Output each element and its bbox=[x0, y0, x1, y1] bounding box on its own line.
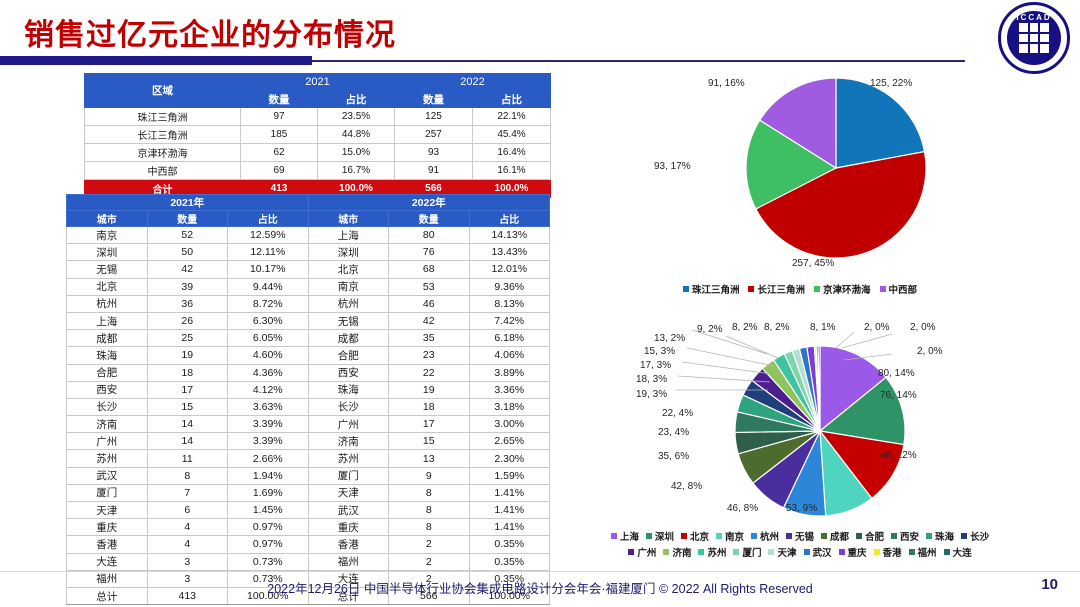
legend-label: 无锡 bbox=[795, 529, 814, 543]
cell-city-2022: 杭州 bbox=[308, 295, 389, 312]
cell-share-2022: 1.59% bbox=[469, 467, 550, 484]
cell-share-2021: 6.30% bbox=[228, 312, 309, 329]
cell-count-2021: 11 bbox=[147, 450, 228, 467]
pie-leader-line bbox=[682, 362, 772, 374]
cell-share-2022: 3.00% bbox=[469, 416, 550, 433]
header-year-2021: 2021 bbox=[241, 74, 395, 91]
cell-share-2022: 14.13% bbox=[469, 227, 550, 244]
cell-share-2022: 13.43% bbox=[469, 244, 550, 261]
pie-label-珠海: 19, 3% bbox=[636, 389, 667, 400]
legend-label: 重庆 bbox=[848, 545, 867, 559]
pie-label-福州: 2, 0% bbox=[910, 322, 936, 333]
legend-item-长沙[interactable]: 长沙 bbox=[961, 529, 989, 543]
cell-city-2021: 重庆 bbox=[67, 519, 148, 536]
legend-label: 厦门 bbox=[742, 545, 761, 559]
legend-item-无锡[interactable]: 无锡 bbox=[786, 529, 814, 543]
cell-count-2022: 68 bbox=[389, 261, 470, 278]
cell-share-2022: 0.35% bbox=[469, 536, 550, 553]
cell-city-2022: 广州 bbox=[308, 416, 389, 433]
cell-share-2021: 3.39% bbox=[228, 433, 309, 450]
legend-label: 苏州 bbox=[707, 545, 726, 559]
legend-label: 长江三角洲 bbox=[757, 282, 805, 296]
table-row: 苏州112.66%苏州132.30% bbox=[67, 450, 550, 467]
legend-swatch-icon bbox=[804, 549, 810, 555]
cell-count-2022: 8 bbox=[389, 519, 470, 536]
cell-share-2021: 1.45% bbox=[228, 502, 309, 519]
cell-count-2021: 3 bbox=[147, 553, 228, 570]
legend-label: 杭州 bbox=[760, 529, 779, 543]
iccad-logo-inner: ICCAD bbox=[1007, 11, 1061, 65]
legend-swatch-icon bbox=[733, 549, 739, 555]
legend-label: 南京 bbox=[725, 529, 744, 543]
cell-city-2022: 无锡 bbox=[308, 312, 389, 329]
legend-label: 上海 bbox=[620, 529, 639, 543]
legend-item-香港[interactable]: 香港 bbox=[874, 545, 902, 559]
cell-count-2022: 76 bbox=[389, 244, 470, 261]
table-row: 武汉81.94%厦门91.59% bbox=[67, 467, 550, 484]
cell-city-2022: 济南 bbox=[308, 433, 389, 450]
table-row: 成都256.05%成都356.18% bbox=[67, 330, 550, 347]
legend-item-深圳[interactable]: 深圳 bbox=[646, 529, 674, 543]
legend-label: 合肥 bbox=[865, 529, 884, 543]
cell-share-2021: 3.39% bbox=[228, 416, 309, 433]
cell-share-2021: 0.97% bbox=[228, 536, 309, 553]
cell-count-2022: 8 bbox=[389, 502, 470, 519]
cell-city-2022: 北京 bbox=[308, 261, 389, 278]
cell-share-2021: 4.12% bbox=[228, 381, 309, 398]
cell-city-2022: 成都 bbox=[308, 330, 389, 347]
cell-city-2022: 西安 bbox=[308, 364, 389, 381]
table-row: 中西部6916.7%9116.1% bbox=[85, 162, 551, 180]
cell-count-2022: 2 bbox=[389, 553, 470, 570]
legend-label: 珠海 bbox=[935, 529, 954, 543]
cell-city-2021: 广州 bbox=[67, 433, 148, 450]
cell-count-2022: 93 bbox=[395, 144, 473, 162]
cell-share-2021: 44.8% bbox=[318, 126, 395, 144]
cell-city-2021: 长沙 bbox=[67, 398, 148, 415]
cell-city-2021: 大连 bbox=[67, 553, 148, 570]
header-share-2022: 占比 bbox=[473, 91, 551, 108]
cell-count-2022: 8 bbox=[389, 484, 470, 501]
header-share-2022: 占比 bbox=[469, 211, 550, 227]
legend-item-武汉[interactable]: 武汉 bbox=[804, 545, 832, 559]
cell-city-2021: 合肥 bbox=[67, 364, 148, 381]
cell-share-2022: 12.01% bbox=[469, 261, 550, 278]
legend-label: 武汉 bbox=[813, 545, 832, 559]
page-number: 10 bbox=[1041, 576, 1058, 593]
cell-city-2021: 深圳 bbox=[67, 244, 148, 261]
cell-city-2021: 无锡 bbox=[67, 261, 148, 278]
cell-city-2021: 武汉 bbox=[67, 467, 148, 484]
cell-share-2022: 22.1% bbox=[473, 108, 551, 126]
pie-label-成都: 35, 6% bbox=[658, 451, 689, 462]
cell-count-2021: 14 bbox=[147, 416, 228, 433]
cell-count-2022: 9 bbox=[389, 467, 470, 484]
pie-label-珠江三角洲: 125, 22% bbox=[870, 78, 912, 89]
legend-swatch-icon bbox=[839, 549, 845, 555]
cell-share-2022: 3.18% bbox=[469, 398, 550, 415]
cell-count-2021: 69 bbox=[241, 162, 318, 180]
legend-item-南京[interactable]: 南京 bbox=[716, 529, 744, 543]
cell-share-2021: 12.11% bbox=[228, 244, 309, 261]
legend-swatch-icon bbox=[628, 549, 634, 555]
cell-city-2022: 香港 bbox=[308, 536, 389, 553]
cell-count-2021: 39 bbox=[147, 278, 228, 295]
legend-label: 天津 bbox=[777, 545, 796, 559]
cell-share-2022: 0.35% bbox=[469, 553, 550, 570]
cell-count-2021: 26 bbox=[147, 312, 228, 329]
table-row: 厦门71.69%天津81.41% bbox=[67, 484, 550, 501]
cell-count-2021: 18 bbox=[147, 364, 228, 381]
pie-label-合肥: 23, 4% bbox=[658, 427, 689, 438]
cell-count-2022: 46 bbox=[389, 295, 470, 312]
city-table-header-row-2: 城市 数量 占比 城市 数量 占比 bbox=[67, 211, 550, 227]
city-pie-chart: 80, 14%76, 14%68, 12%53, 9%46, 8%42, 8%3… bbox=[592, 318, 1080, 528]
legend-swatch-icon bbox=[698, 549, 704, 555]
city-table-head: 2021年 2022年 城市 数量 占比 城市 数量 占比 bbox=[67, 195, 550, 227]
cell-share-2022: 1.41% bbox=[469, 502, 550, 519]
table-row: 杭州368.72%杭州468.13% bbox=[67, 295, 550, 312]
cell-city-2021: 西安 bbox=[67, 381, 148, 398]
legend-item-京津环渤海[interactable]: 京津环渤海 bbox=[814, 282, 871, 296]
cell-city-2021: 北京 bbox=[67, 278, 148, 295]
cell-share-2021: 16.7% bbox=[318, 162, 395, 180]
city-table-body: 南京5212.59%上海8014.13%深圳5012.11%深圳7613.43%… bbox=[67, 227, 550, 605]
cell-region-name: 珠江三角洲 bbox=[85, 108, 241, 126]
pie-label-南京: 53, 9% bbox=[786, 503, 817, 514]
pie-label-广州: 17, 3% bbox=[640, 360, 671, 371]
region-distribution-table: 区域 2021 2022 数量 占比 数量 占比 珠江三角洲9723.5%125… bbox=[84, 73, 551, 198]
legend-swatch-icon bbox=[663, 549, 669, 555]
pie-label-重庆: 8, 1% bbox=[810, 322, 836, 333]
legend-swatch-icon bbox=[961, 533, 967, 539]
cell-region-name: 京津环渤海 bbox=[85, 144, 241, 162]
page-title: 销售过亿元企业的分布情况 bbox=[24, 10, 396, 54]
table-row: 京津环渤海6215.0%9316.4% bbox=[85, 144, 551, 162]
region-table-header-row-1: 区域 2021 2022 bbox=[85, 74, 551, 91]
legend-label: 济南 bbox=[672, 545, 691, 559]
table-row: 长沙153.63%长沙183.18% bbox=[67, 398, 550, 415]
legend-label: 西安 bbox=[900, 529, 919, 543]
cell-city-2022: 长沙 bbox=[308, 398, 389, 415]
legend-item-福州[interactable]: 福州 bbox=[909, 545, 937, 559]
legend-item-上海[interactable]: 上海 bbox=[611, 529, 639, 543]
table-row: 大连30.73%福州20.35% bbox=[67, 553, 550, 570]
cell-city-2021: 天津 bbox=[67, 502, 148, 519]
legend-swatch-icon bbox=[944, 549, 950, 555]
legend-label: 福州 bbox=[918, 545, 937, 559]
legend-label: 长沙 bbox=[970, 529, 989, 543]
legend-item-厦门[interactable]: 厦门 bbox=[733, 545, 761, 559]
cell-share-2021: 10.17% bbox=[228, 261, 309, 278]
legend-label: 中西部 bbox=[889, 282, 918, 296]
city-pie-legend: 上海深圳北京南京杭州无锡成都合肥西安珠海长沙广州济南苏州厦门天津武汉重庆香港福州… bbox=[606, 529, 994, 559]
pie-label-武汉: 8, 2% bbox=[764, 322, 790, 333]
cell-share-2022: 9.36% bbox=[469, 278, 550, 295]
pie-label-长江三角洲: 257, 45% bbox=[792, 258, 834, 269]
cell-share-2022: 3.36% bbox=[469, 381, 550, 398]
cell-share-2022: 1.41% bbox=[469, 484, 550, 501]
legend-item-广州[interactable]: 广州 bbox=[628, 545, 656, 559]
cell-count-2021: 97 bbox=[241, 108, 318, 126]
legend-swatch-icon bbox=[821, 533, 827, 539]
legend-item-珠江三角洲[interactable]: 珠江三角洲 bbox=[683, 282, 740, 296]
cell-city-2022: 武汉 bbox=[308, 502, 389, 519]
city-table-header-row-1: 2021年 2022年 bbox=[67, 195, 550, 211]
header-count-2022: 数量 bbox=[389, 211, 470, 227]
legend-swatch-icon bbox=[814, 286, 820, 292]
legend-label: 北京 bbox=[690, 529, 709, 543]
cell-city-2021: 苏州 bbox=[67, 450, 148, 467]
cell-share-2022: 2.65% bbox=[469, 433, 550, 450]
region-pie-legend: 珠江三角洲长江三角洲京津环渤海中西部 bbox=[600, 282, 1000, 296]
cell-share-2022: 6.18% bbox=[469, 330, 550, 347]
slide-root: 销售过亿元企业的分布情况 ICCAD 区域 2021 2022 数量 占比 数量… bbox=[0, 0, 1080, 607]
legend-swatch-icon bbox=[856, 533, 862, 539]
cell-count-2021: 15 bbox=[147, 398, 228, 415]
cell-count-2022: 23 bbox=[389, 347, 470, 364]
legend-item-西安[interactable]: 西安 bbox=[891, 529, 919, 543]
cell-count-2021: 52 bbox=[147, 227, 228, 244]
cell-count-2022: 17 bbox=[389, 416, 470, 433]
table-row: 珠江三角洲9723.5%12522.1% bbox=[85, 108, 551, 126]
legend-label: 珠江三角洲 bbox=[692, 282, 740, 296]
cell-city-2021: 济南 bbox=[67, 416, 148, 433]
region-pie-svg bbox=[592, 62, 1080, 287]
header-year-2022: 2022 bbox=[395, 74, 551, 91]
table-row: 无锡4210.17%北京6812.01% bbox=[67, 261, 550, 278]
cell-share-2021: 6.05% bbox=[228, 330, 309, 347]
pie-label-深圳: 76, 14% bbox=[880, 390, 917, 401]
pie-label-上海: 80, 14% bbox=[878, 368, 915, 379]
cell-share-2022: 8.13% bbox=[469, 295, 550, 312]
cell-share-2022: 7.42% bbox=[469, 312, 550, 329]
pie-label-京津环渤海: 93, 17% bbox=[654, 161, 691, 172]
header-city-2021: 城市 bbox=[67, 211, 148, 227]
cell-city-2022: 天津 bbox=[308, 484, 389, 501]
table-row: 重庆40.97%重庆81.41% bbox=[67, 519, 550, 536]
cell-share-2021: 0.97% bbox=[228, 519, 309, 536]
cell-count-2021: 14 bbox=[147, 433, 228, 450]
header-city-year-2021: 2021年 bbox=[67, 195, 309, 211]
cell-city-2022: 合肥 bbox=[308, 347, 389, 364]
cell-share-2022: 16.1% bbox=[473, 162, 551, 180]
cell-share-2021: 23.5% bbox=[318, 108, 395, 126]
cell-count-2022: 35 bbox=[389, 330, 470, 347]
cell-share-2021: 8.72% bbox=[228, 295, 309, 312]
pie-leader-line bbox=[726, 336, 778, 358]
cell-count-2022: 91 bbox=[395, 162, 473, 180]
legend-label: 京津环渤海 bbox=[823, 282, 871, 296]
cell-city-2022: 南京 bbox=[308, 278, 389, 295]
table-row: 合肥184.36%西安223.89% bbox=[67, 364, 550, 381]
cell-region-name: 中西部 bbox=[85, 162, 241, 180]
table-row: 西安174.12%珠海193.36% bbox=[67, 381, 550, 398]
cell-city-2021: 上海 bbox=[67, 312, 148, 329]
cell-city-2022: 苏州 bbox=[308, 450, 389, 467]
cell-count-2021: 4 bbox=[147, 519, 228, 536]
legend-item-中西部[interactable]: 中西部 bbox=[880, 282, 918, 296]
table-row: 北京399.44%南京539.36% bbox=[67, 278, 550, 295]
cell-share-2022: 3.89% bbox=[469, 364, 550, 381]
legend-item-苏州[interactable]: 苏州 bbox=[698, 545, 726, 559]
table-row: 香港40.97%香港20.35% bbox=[67, 536, 550, 553]
header-share-2021: 占比 bbox=[318, 91, 395, 108]
chip-grid-icon bbox=[1019, 23, 1049, 53]
table-row: 长江三角洲18544.8%25745.4% bbox=[85, 126, 551, 144]
table-row: 济南143.39%广州173.00% bbox=[67, 416, 550, 433]
pie-label-天津: 8, 2% bbox=[732, 322, 758, 333]
footer-text: 2022年12月26日 中国半导体行业协会集成电路设计分会年会·福建厦门 © 2… bbox=[0, 578, 1080, 597]
cell-count-2022: 18 bbox=[389, 398, 470, 415]
legend-swatch-icon bbox=[683, 286, 689, 292]
legend-item-成都[interactable]: 成都 bbox=[821, 529, 849, 543]
legend-swatch-icon bbox=[786, 533, 792, 539]
pie-label-长沙: 18, 3% bbox=[636, 374, 667, 385]
cell-city-2021: 厦门 bbox=[67, 484, 148, 501]
cell-share-2021: 12.59% bbox=[228, 227, 309, 244]
legend-swatch-icon bbox=[891, 533, 897, 539]
table-row: 广州143.39%济南152.65% bbox=[67, 433, 550, 450]
cell-city-2022: 上海 bbox=[308, 227, 389, 244]
cell-city-2021: 珠海 bbox=[67, 347, 148, 364]
legend-swatch-icon bbox=[926, 533, 932, 539]
cell-count-2021: 62 bbox=[241, 144, 318, 162]
cell-city-2022: 深圳 bbox=[308, 244, 389, 261]
cell-share-2021: 4.60% bbox=[228, 347, 309, 364]
cell-region-name: 长江三角洲 bbox=[85, 126, 241, 144]
cell-count-2021: 8 bbox=[147, 467, 228, 484]
cell-share-2021: 1.94% bbox=[228, 467, 309, 484]
legend-swatch-icon bbox=[611, 533, 617, 539]
cell-city-2022: 重庆 bbox=[308, 519, 389, 536]
legend-label: 成都 bbox=[830, 529, 849, 543]
title-rule-thick bbox=[0, 56, 312, 65]
pie-label-大连: 2, 0% bbox=[917, 346, 943, 357]
legend-swatch-icon bbox=[874, 549, 880, 555]
legend-item-大连[interactable]: 大连 bbox=[944, 545, 972, 559]
legend-item-重庆[interactable]: 重庆 bbox=[839, 545, 867, 559]
cell-count-2021: 17 bbox=[147, 381, 228, 398]
cell-count-2021: 36 bbox=[147, 295, 228, 312]
cell-city-2021: 杭州 bbox=[67, 295, 148, 312]
cell-count-2021: 42 bbox=[147, 261, 228, 278]
legend-swatch-icon bbox=[716, 533, 722, 539]
region-table-head: 区域 2021 2022 数量 占比 数量 占比 bbox=[85, 74, 551, 108]
legend-item-长江三角洲[interactable]: 长江三角洲 bbox=[748, 282, 805, 296]
legend-item-天津[interactable]: 天津 bbox=[768, 545, 796, 559]
legend-swatch-icon bbox=[909, 549, 915, 555]
pie-label-厦门: 9, 2% bbox=[697, 324, 723, 335]
pie-label-无锡: 42, 8% bbox=[671, 481, 702, 492]
cell-city-2022: 珠海 bbox=[308, 381, 389, 398]
legend-label: 大连 bbox=[953, 545, 972, 559]
cell-share-2022: 4.06% bbox=[469, 347, 550, 364]
cell-count-2022: 257 bbox=[395, 126, 473, 144]
pie-label-香港: 2, 0% bbox=[864, 322, 890, 333]
header-count-2021: 数量 bbox=[241, 91, 318, 108]
cell-city-2021: 香港 bbox=[67, 536, 148, 553]
city-distribution-table: 2021年 2022年 城市 数量 占比 城市 数量 占比 南京5212.59%… bbox=[66, 194, 550, 605]
table-row: 上海266.30%无锡427.42% bbox=[67, 312, 550, 329]
legend-label: 香港 bbox=[883, 545, 902, 559]
cell-count-2021: 50 bbox=[147, 244, 228, 261]
cell-city-2021: 南京 bbox=[67, 227, 148, 244]
table-row: 天津61.45%武汉81.41% bbox=[67, 502, 550, 519]
cell-share-2021: 15.0% bbox=[318, 144, 395, 162]
legend-swatch-icon bbox=[681, 533, 687, 539]
cell-count-2022: 42 bbox=[389, 312, 470, 329]
cell-count-2022: 15 bbox=[389, 433, 470, 450]
legend-swatch-icon bbox=[768, 549, 774, 555]
legend-item-济南[interactable]: 济南 bbox=[663, 545, 691, 559]
header-city-2022: 城市 bbox=[308, 211, 389, 227]
legend-swatch-icon bbox=[880, 286, 886, 292]
header-share-2021: 占比 bbox=[228, 211, 309, 227]
header-city-year-2022: 2022年 bbox=[308, 195, 550, 211]
header-count-2022: 数量 bbox=[395, 91, 473, 108]
region-table-body: 珠江三角洲9723.5%12522.1%长江三角洲18544.8%25745.4… bbox=[85, 108, 551, 198]
cell-count-2021: 185 bbox=[241, 126, 318, 144]
header-region: 区域 bbox=[85, 74, 241, 108]
pie-label-济南: 15, 3% bbox=[644, 346, 675, 357]
cell-share-2021: 3.63% bbox=[228, 398, 309, 415]
legend-label: 深圳 bbox=[655, 529, 674, 543]
cell-share-2021: 1.69% bbox=[228, 484, 309, 501]
legend-label: 广州 bbox=[637, 545, 656, 559]
cell-share-2021: 0.73% bbox=[228, 553, 309, 570]
cell-city-2022: 厦门 bbox=[308, 467, 389, 484]
legend-item-杭州[interactable]: 杭州 bbox=[751, 529, 779, 543]
header-count-2021: 数量 bbox=[147, 211, 228, 227]
legend-item-北京[interactable]: 北京 bbox=[681, 529, 709, 543]
cell-share-2022: 1.41% bbox=[469, 519, 550, 536]
table-row: 深圳5012.11%深圳7613.43% bbox=[67, 244, 550, 261]
pie-label-西安: 22, 4% bbox=[662, 408, 693, 419]
region-pie-chart: 125, 22%257, 45%93, 17%91, 16% bbox=[592, 62, 1080, 287]
iccad-logo-text: ICCAD bbox=[1007, 13, 1061, 22]
cell-share-2022: 2.30% bbox=[469, 450, 550, 467]
cell-city-2021: 成都 bbox=[67, 330, 148, 347]
cell-share-2021: 4.36% bbox=[228, 364, 309, 381]
legend-swatch-icon bbox=[748, 286, 754, 292]
pie-label-北京: 68, 12% bbox=[880, 450, 917, 461]
cell-count-2022: 22 bbox=[389, 364, 470, 381]
cell-share-2022: 45.4% bbox=[473, 126, 551, 144]
cell-city-2022: 福州 bbox=[308, 553, 389, 570]
pie-label-中西部: 91, 16% bbox=[708, 78, 745, 89]
cell-share-2021: 2.66% bbox=[228, 450, 309, 467]
cell-count-2021: 7 bbox=[147, 484, 228, 501]
cell-count-2021: 4 bbox=[147, 536, 228, 553]
pie-label-杭州: 46, 8% bbox=[727, 503, 758, 514]
legend-item-珠海[interactable]: 珠海 bbox=[926, 529, 954, 543]
cell-count-2022: 13 bbox=[389, 450, 470, 467]
legend-swatch-icon bbox=[646, 533, 652, 539]
cell-count-2021: 25 bbox=[147, 330, 228, 347]
footer-divider bbox=[0, 571, 1080, 572]
cell-count-2022: 53 bbox=[389, 278, 470, 295]
cell-count-2022: 125 bbox=[395, 108, 473, 126]
cell-share-2022: 16.4% bbox=[473, 144, 551, 162]
cell-count-2022: 80 bbox=[389, 227, 470, 244]
legend-item-合肥[interactable]: 合肥 bbox=[856, 529, 884, 543]
cell-count-2021: 19 bbox=[147, 347, 228, 364]
pie-label-苏州: 13, 2% bbox=[654, 333, 685, 344]
cell-count-2022: 19 bbox=[389, 381, 470, 398]
table-row: 珠海194.60%合肥234.06% bbox=[67, 347, 550, 364]
cell-count-2022: 2 bbox=[389, 536, 470, 553]
